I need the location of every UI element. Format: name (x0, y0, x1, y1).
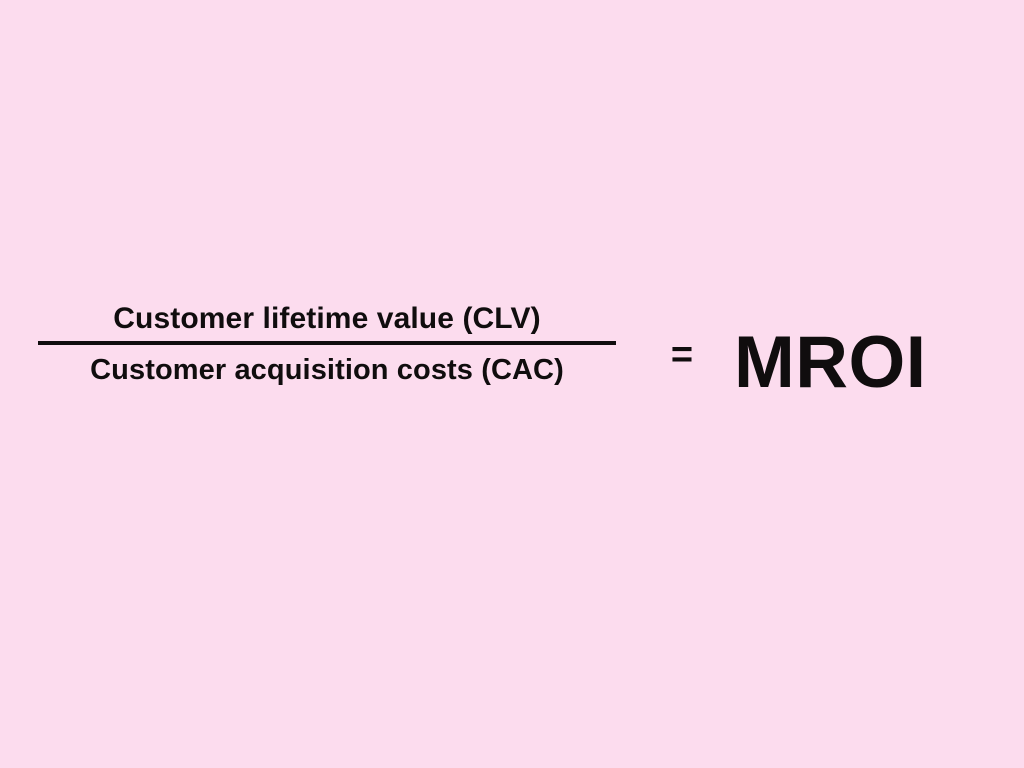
equals-sign-icon: = (660, 332, 704, 378)
result-label-mroi: MROI (734, 320, 927, 406)
mroi-formula: Customer lifetime value (CLV) Customer a… (0, 0, 1024, 768)
slide-canvas: Customer lifetime value (CLV) Customer a… (0, 0, 1024, 768)
fraction: Customer lifetime value (CLV) Customer a… (38, 300, 616, 389)
fraction-numerator: Customer lifetime value (CLV) (38, 300, 616, 341)
fraction-denominator: Customer acquisition costs (CAC) (38, 345, 616, 389)
